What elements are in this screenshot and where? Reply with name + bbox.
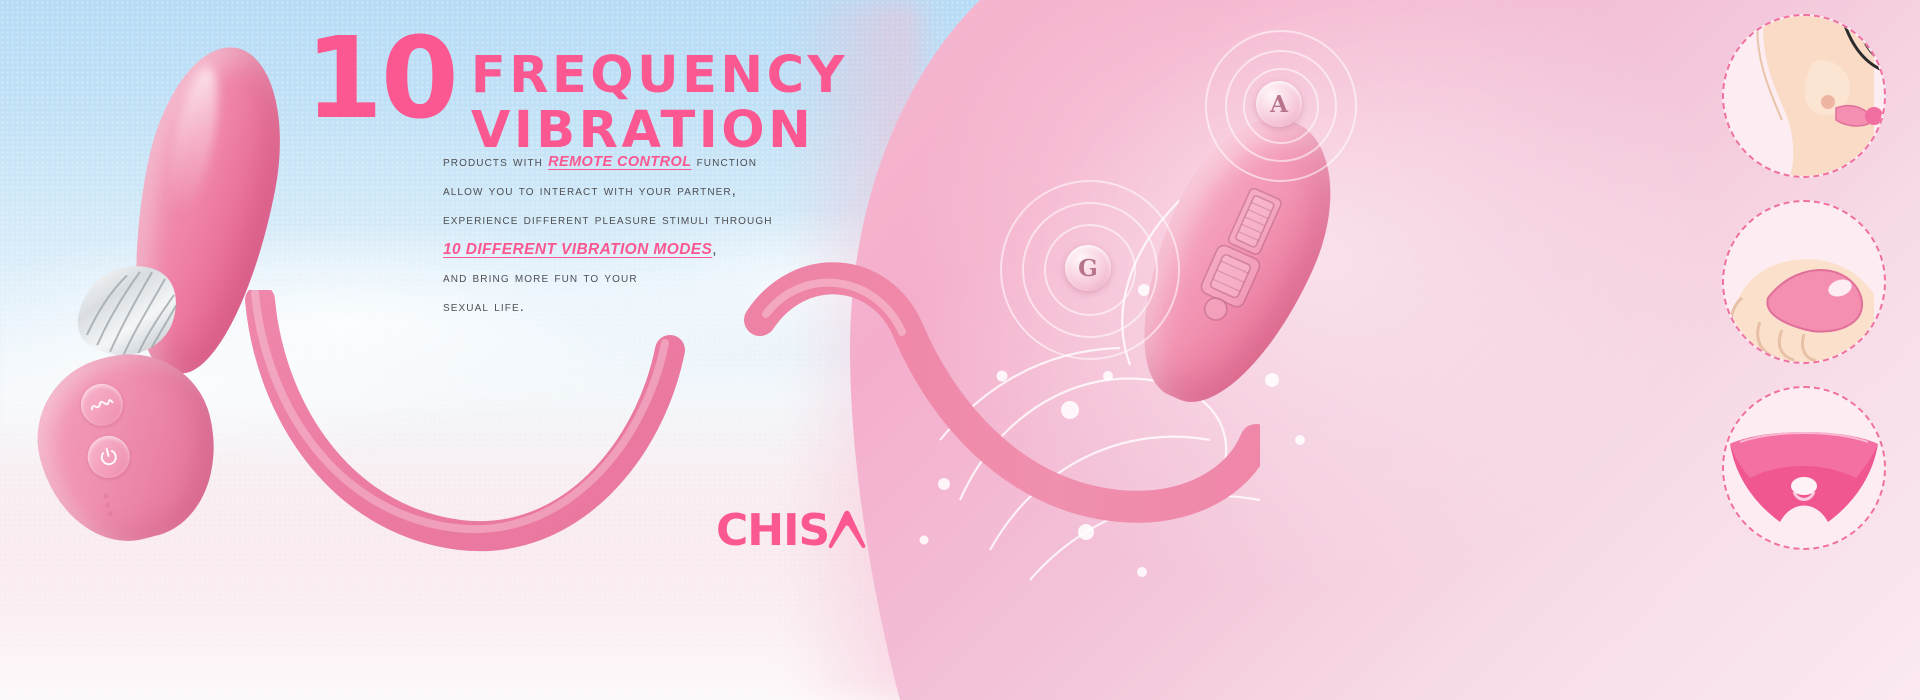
power-button[interactable] [83,431,134,482]
left-product-tail-cord [230,290,700,570]
usage-nipple-stimulation[interactable] [1722,14,1886,178]
vibration-modes-highlight: 10 DIFFERENT VIBRATION MODES [443,241,712,258]
usage-handheld-clitoral[interactable] [1722,200,1886,364]
mode-button-g[interactable]: G [1065,245,1111,291]
chisa-wordmark: CHIS [716,505,866,557]
description-line-1-prefix: Products with [443,154,548,170]
usage-illustrations [1722,14,1886,572]
remote-indicator-dots [102,489,114,520]
description-line-4-suffix: , [712,241,717,258]
headline-number: 10 [305,28,457,131]
description-line-1-suffix: function [691,154,757,170]
description-line-3: experience different pleasure stimuli th… [443,206,913,235]
headline-line-frequency: FREQUENCY [471,48,848,103]
brand-logo: CHIS CHISA [716,505,866,557]
product-banner: 10 FREQUENCY VIBRATION Products with REM… [0,0,1920,700]
wave-button[interactable] [76,379,127,430]
remote-control-highlight: REMOTE CONTROL [548,154,691,170]
wave-icon [89,395,116,414]
svg-text:CHIS: CHIS [716,505,829,556]
description-line-1: Products with REMOTE CONTROL function [443,148,913,177]
mode-button-a[interactable]: A [1256,81,1302,127]
headline: 10 FREQUENCY VIBRATION [305,28,945,158]
description-line-2: allow you to interact with your partner, [443,177,913,206]
usage-wearable-panty[interactable] [1722,386,1886,550]
power-icon [97,445,121,469]
